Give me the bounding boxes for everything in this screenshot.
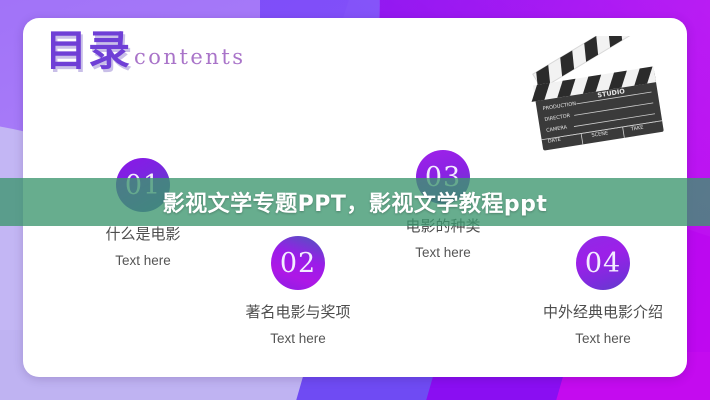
article-title: 影视文学专题PPT，影视文学教程ppt xyxy=(0,186,710,218)
item-title-01: 什么是电影 xyxy=(63,223,223,244)
item-subtitle-01: Text here xyxy=(63,253,223,268)
clapperboard-icon: PRODUCTION DIRECTOR CAMERA DATE STUDIO S… xyxy=(515,36,675,156)
contents-item-04[interactable]: 04 中外经典电影介绍 Text here xyxy=(513,236,687,346)
item-subtitle-03: Text here xyxy=(363,245,523,260)
item-subtitle-02: Text here xyxy=(213,331,383,346)
page-title-en: contents xyxy=(134,45,246,72)
article-title-banner: 影视文学专题PPT，影视文学教程ppt xyxy=(0,178,710,226)
page-title: 目录 contents xyxy=(45,30,246,72)
page-title-cn: 目录 xyxy=(45,30,131,72)
contents-item-02[interactable]: 02 著名电影与奖项 Text here xyxy=(213,236,383,346)
item-title-02: 著名电影与奖项 xyxy=(213,301,383,322)
item-number-badge-02: 02 xyxy=(271,236,325,290)
item-title-04: 中外经典电影介绍 xyxy=(513,301,687,322)
item-subtitle-04: Text here xyxy=(513,331,687,346)
item-number-badge-04: 04 xyxy=(576,236,630,290)
